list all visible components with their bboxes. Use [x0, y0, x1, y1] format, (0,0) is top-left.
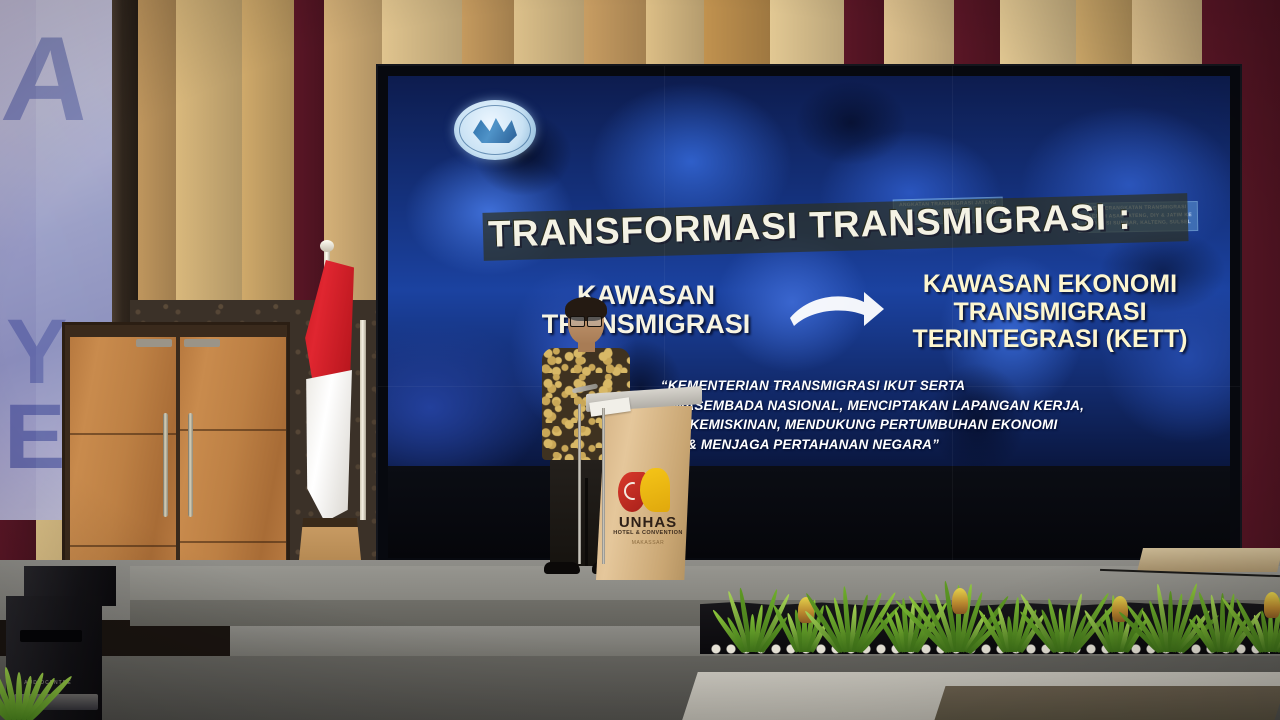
- podium-body: UNHAS HOTEL & CONVENTION MAKASSAR: [596, 406, 692, 580]
- door-handle[interactable]: [163, 413, 168, 517]
- potted-plant: [1042, 588, 1088, 652]
- podium-brand-sub2: MAKASSAR: [606, 540, 690, 546]
- potted-plant: [1248, 590, 1280, 652]
- podium-brand-sub: HOTEL & CONVENTION: [606, 530, 690, 536]
- bromeliad-flower: [952, 588, 968, 614]
- bromeliad-flower: [1264, 592, 1280, 618]
- door-closer-icon: [136, 339, 172, 347]
- led-panel-seam: [952, 66, 953, 566]
- door-right-leaf[interactable]: [180, 337, 286, 583]
- stage-crate: [1137, 548, 1280, 572]
- door-closer-icon: [184, 339, 220, 347]
- led-panel-seam: [378, 386, 1240, 387]
- slide-right-label: KAWASAN EKONOMI TRANSMIGRASI TERINTEGRAS…: [876, 271, 1224, 354]
- potted-plant: [1148, 584, 1194, 652]
- flag-finial: [320, 240, 334, 252]
- podium: UNHAS HOTEL & CONVENTION MAKASSAR: [592, 390, 696, 580]
- ministry-emblem-icon: [454, 100, 536, 160]
- potted-plant: [730, 592, 776, 652]
- speaker-glasses: [570, 316, 602, 325]
- secondary-flag-pole: [360, 320, 366, 520]
- flag-cloth: [302, 260, 354, 522]
- door-left-leaf[interactable]: [70, 337, 176, 583]
- right-arrow-icon: [788, 288, 886, 330]
- led-screen-content: ANGKATAN TRANSMIGRASI JATENG DIY & JATIM…: [388, 76, 1230, 466]
- flag-white-stripe: [302, 370, 354, 522]
- slide-right-label-line1: KAWASAN EKONOMI: [876, 271, 1224, 299]
- potted-plant: [936, 582, 982, 652]
- indonesian-flag: [296, 246, 366, 576]
- foreground-plant: [0, 648, 48, 720]
- projection-letter-e: E: [4, 385, 63, 490]
- podium-brand-name: UNHAS: [606, 514, 690, 531]
- conference-hall-photo: A Y E ANGK: [0, 0, 1280, 720]
- projection-letter-a: A: [0, 10, 96, 148]
- double-door[interactable]: [62, 322, 290, 580]
- potted-plant: [828, 586, 874, 652]
- speaker-port: [20, 630, 82, 642]
- microphone-stand: [578, 404, 581, 564]
- floor-dark-strip: [934, 686, 1280, 720]
- slide-right-label-line2: TRANSMIGRASI: [876, 299, 1224, 327]
- microphone-stand: [602, 408, 605, 564]
- led-screen: ANGKATAN TRANSMIGRASI JATENG DIY & JATIM…: [378, 66, 1240, 566]
- slide-right-label-line3: TERINTEGRASI (KETT): [876, 326, 1224, 354]
- unhas-logo-icon: [618, 468, 676, 514]
- door-handle[interactable]: [188, 413, 193, 517]
- flag-red-stripe: [302, 260, 354, 386]
